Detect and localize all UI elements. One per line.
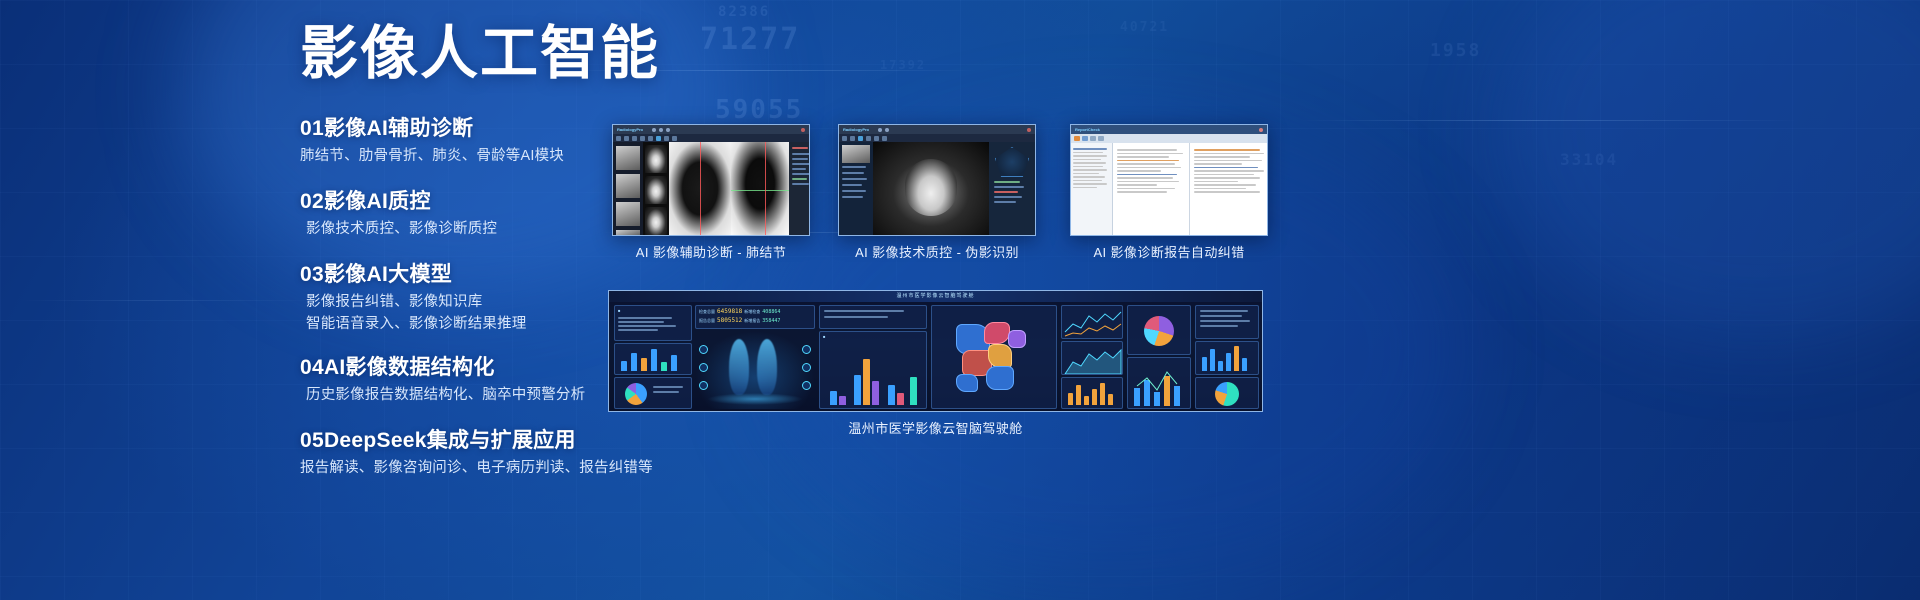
report-text-line <box>1117 184 1157 186</box>
toolbar-icon[interactable] <box>632 136 637 141</box>
dashboard-card-bars-far-right[interactable] <box>1195 341 1259 375</box>
screenshot-ai-quality-control[interactable]: RadiologyPro <box>838 124 1036 236</box>
ribbon-icon[interactable] <box>1098 136 1104 141</box>
bar <box>839 396 846 405</box>
finding-row[interactable] <box>792 173 810 175</box>
background-numeral: 59055 <box>715 95 803 125</box>
toolbar-icon[interactable] <box>858 136 863 141</box>
crosshair-vertical <box>700 142 701 235</box>
window-toolbar[interactable] <box>613 134 809 142</box>
close-icon[interactable] <box>1027 128 1031 132</box>
finding-row[interactable] <box>792 158 808 160</box>
dashboard-card-donut-left[interactable] <box>614 377 692 409</box>
feature-desc-line: 报告解读、影像咨询问诊、电子病历判读、报告纠错等 <box>300 458 720 480</box>
bar <box>888 385 895 405</box>
report-list-row[interactable] <box>1073 183 1107 185</box>
dashboard-card-line-chart[interactable] <box>1061 305 1123 339</box>
dashboard-card-kpis[interactable] <box>819 305 927 329</box>
metric-value: 408864 <box>762 309 780 315</box>
dashboard-card-bars-left[interactable] <box>614 343 692 375</box>
donut-chart <box>1215 382 1239 406</box>
background-numeral: 33104 <box>1560 150 1618 169</box>
screenshot-caption-wrap-2: AI 影像技术质控 - 伪影识别 <box>838 242 1036 261</box>
findings-panel[interactable] <box>789 142 809 235</box>
mixed-chart-svg <box>1128 358 1191 409</box>
metric-value: 6459818 <box>717 308 742 315</box>
report-text-line <box>1194 170 1264 172</box>
report-list-row[interactable] <box>1073 173 1099 175</box>
worklist-row[interactable] <box>842 190 866 192</box>
bar <box>872 381 879 405</box>
report-correction-line <box>1194 149 1260 151</box>
app-brand-label: RadiologyPro <box>843 127 869 132</box>
screenshot-caption-wrap-1: AI 影像辅助诊断 - 肺结节 <box>612 242 810 261</box>
bar <box>1242 358 1247 371</box>
donut-chart <box>625 383 647 405</box>
page-title: 影像人工智能 <box>300 24 720 85</box>
report-list-row[interactable] <box>1073 162 1106 164</box>
feature-desc: 报告解读、影像咨询问诊、电子病历判读、报告纠错等 <box>300 458 720 480</box>
qc-row[interactable] <box>994 196 1022 198</box>
titlebar-dot-icon <box>652 128 656 132</box>
ribbon-icon[interactable] <box>1082 136 1088 141</box>
bar <box>651 349 657 371</box>
bar <box>1084 396 1089 405</box>
report-list-row[interactable] <box>1073 148 1107 150</box>
dashboard-metric-total-exams[interactable]: 检查总量 6459818 新增检查 408864 报告总量 5805512 新增… <box>695 305 815 329</box>
series-thumbnail[interactable] <box>616 230 640 236</box>
metric-row <box>618 321 664 323</box>
dashboard-card-area-chart[interactable] <box>1061 341 1123 375</box>
finding-row[interactable] <box>792 168 806 170</box>
qc-row[interactable] <box>994 181 1020 183</box>
pie-chart <box>1144 316 1174 346</box>
ct-viewport[interactable] <box>873 142 989 235</box>
screenshot-caption: AI 影像诊断报告自动纠错 <box>1070 242 1268 261</box>
list-row <box>1200 310 1248 312</box>
toolbar-icon[interactable] <box>672 136 677 141</box>
ct-thumbnail[interactable] <box>645 176 667 204</box>
app-brand-label: ReportCheck <box>1075 127 1100 132</box>
body-figure <box>729 339 749 395</box>
hotspot-icon[interactable] <box>802 363 811 372</box>
window-titlebar: ReportCheck <box>1071 125 1267 134</box>
bar <box>1108 394 1113 405</box>
toolbar-icon[interactable] <box>664 136 669 141</box>
report-text-line <box>1117 170 1161 172</box>
worklist-row[interactable] <box>842 166 866 168</box>
thumbnail-strip[interactable] <box>613 142 643 235</box>
crosshair-horizontal <box>731 190 789 191</box>
list-row <box>1200 325 1238 327</box>
screenshot-caption: AI 影像辅助诊断 - 肺结节 <box>612 242 810 261</box>
list-row <box>1200 315 1242 317</box>
report-list-row[interactable] <box>1073 187 1097 189</box>
bar <box>1218 361 1223 371</box>
toolbar-icon[interactable] <box>640 136 645 141</box>
toolbar-icon[interactable] <box>850 136 855 141</box>
finding-row[interactable] <box>792 178 807 180</box>
bar <box>1210 349 1215 371</box>
report-text-line <box>1117 188 1175 190</box>
window-titlebar: RadiologyPro <box>613 125 809 134</box>
dashboard-caption: 温州市医学影像云智脑驾驶舱 <box>608 418 1263 437</box>
report-text-line <box>1117 181 1179 183</box>
bar <box>854 375 861 405</box>
metric-label: 新增检查 <box>744 309 760 315</box>
map-region[interactable] <box>956 374 978 392</box>
close-icon[interactable] <box>801 128 805 132</box>
kpi-row <box>824 310 904 312</box>
background-line <box>20 300 320 301</box>
report-text-line <box>1194 188 1246 190</box>
map-region[interactable] <box>984 322 1010 344</box>
list-row <box>1200 320 1250 322</box>
finding-row[interactable] <box>792 163 810 165</box>
background-numeral: 1958 <box>1430 40 1481 61</box>
bar <box>910 377 917 405</box>
background-line <box>1300 120 1800 121</box>
bar <box>621 361 627 371</box>
dashboard-card-pie[interactable] <box>1127 305 1191 355</box>
bar <box>1100 383 1105 405</box>
hotspot-icon[interactable] <box>699 345 708 354</box>
report-list-row[interactable] <box>1073 176 1105 178</box>
dashboard-card-metrics-left[interactable]: ■ <box>614 305 692 341</box>
report-text-line <box>1194 184 1256 186</box>
report-text-line <box>1117 163 1175 165</box>
metric-row <box>618 325 676 327</box>
bar <box>671 355 677 371</box>
secondary-thumbnails[interactable] <box>643 142 669 235</box>
hotspot-icon[interactable] <box>802 381 811 390</box>
titlebar-dot-icon <box>878 128 882 132</box>
bar <box>897 393 904 405</box>
worklist-row[interactable] <box>842 178 867 180</box>
dashboard-card-map[interactable] <box>931 305 1057 409</box>
findings-header <box>792 147 808 149</box>
report-text-line <box>1194 174 1254 176</box>
finding-row[interactable] <box>792 153 810 155</box>
toolbar-icon[interactable] <box>648 136 653 141</box>
report-list-row[interactable] <box>1073 159 1101 161</box>
hologram-base <box>707 393 803 405</box>
bar <box>1076 385 1081 405</box>
worklist-row[interactable] <box>842 184 862 186</box>
ct-thorax-shape <box>905 159 956 217</box>
series-thumbnail[interactable] <box>616 174 640 198</box>
toolbar-icon[interactable] <box>842 136 847 141</box>
bar <box>1202 357 1207 371</box>
bar <box>863 359 870 405</box>
bar <box>641 358 647 371</box>
dashboard-card-list[interactable] <box>1195 305 1259 339</box>
report-text-line <box>1194 163 1242 165</box>
metric-label: 检查总量 <box>699 309 715 315</box>
report-text-line <box>1117 177 1173 179</box>
screenshot-caption-wrap-3: AI 影像诊断报告自动纠错 <box>1070 242 1268 261</box>
report-text-line <box>1194 153 1264 155</box>
report-text-line <box>1194 167 1258 169</box>
dashboard-card-bars-right[interactable] <box>1061 377 1123 409</box>
hotspot-icon[interactable] <box>699 363 708 372</box>
report-list-row[interactable] <box>1073 166 1103 168</box>
series-thumbnail[interactable] <box>842 145 870 163</box>
dashboard-header-title: 温州市医学影像云智脑驾驶舱 <box>609 291 1262 302</box>
titlebar-dot-icon <box>885 128 889 132</box>
background-numeral: 82386 <box>718 4 770 20</box>
ct-axial-viewport[interactable] <box>669 142 731 235</box>
report-list-row[interactable] <box>1073 169 1107 171</box>
ribbon-icon[interactable] <box>1074 136 1080 141</box>
hotspot-icon[interactable] <box>699 381 708 390</box>
report-text-line <box>1194 160 1262 162</box>
report-text-line <box>1117 149 1177 151</box>
hotspot-icon[interactable] <box>802 345 811 354</box>
report-list-row[interactable] <box>1073 152 1103 154</box>
hologram-body-visual[interactable] <box>695 331 815 409</box>
series-thumbnail[interactable] <box>616 146 640 170</box>
report-text-line <box>1117 167 1181 169</box>
metric-row <box>618 317 672 319</box>
radar-chart <box>995 147 1029 177</box>
report-text-line <box>1117 174 1177 176</box>
qc-row[interactable] <box>994 186 1024 188</box>
toolbar-icon[interactable] <box>656 136 661 141</box>
dashboard-card-title: ■ <box>615 306 691 315</box>
legend-row <box>653 386 683 388</box>
toolbar-icon[interactable] <box>874 136 879 141</box>
ribbon-icon[interactable] <box>1090 136 1096 141</box>
worklist-row[interactable] <box>842 172 864 174</box>
ribbon-toolbar[interactable] <box>1071 134 1267 143</box>
report-text-line <box>1194 156 1250 158</box>
dashboard-card-donut-right[interactable] <box>1195 377 1259 409</box>
bar <box>1234 346 1239 371</box>
worklist-row[interactable] <box>842 196 863 198</box>
legend-row <box>653 391 679 393</box>
body-figure <box>757 339 777 395</box>
map-region[interactable] <box>1008 330 1026 348</box>
screenshot-caption: AI 影像技术质控 - 伪影识别 <box>838 242 1036 261</box>
toolbar-icon[interactable] <box>616 136 621 141</box>
ct-thumbnail[interactable] <box>645 207 667 235</box>
report-original-pane[interactable] <box>1113 143 1189 235</box>
series-thumbnail[interactable] <box>616 202 640 226</box>
close-icon[interactable] <box>1259 128 1263 132</box>
report-list-row[interactable] <box>1073 155 1107 157</box>
ct-thumbnail[interactable] <box>645 145 667 173</box>
report-text-line <box>1194 177 1260 179</box>
area-chart-svg <box>1062 342 1123 375</box>
dashboard-card-mixed[interactable] <box>1127 357 1191 409</box>
report-text-line <box>1194 191 1260 193</box>
map-region[interactable] <box>986 366 1014 390</box>
metric-value: 5805512 <box>717 317 742 324</box>
bar <box>1226 353 1231 371</box>
bar <box>631 353 637 371</box>
worklist-panel[interactable] <box>839 142 873 235</box>
toolbar-icon[interactable] <box>866 136 871 141</box>
report-text-line <box>1117 191 1167 193</box>
dashboard-card-title: ■ <box>820 332 926 341</box>
report-text-line <box>1117 156 1169 158</box>
bar <box>830 391 837 405</box>
report-list-panel[interactable] <box>1071 143 1113 235</box>
bar <box>1068 393 1073 405</box>
line-chart-svg <box>1062 306 1123 339</box>
titlebar-dot-icon <box>659 128 663 132</box>
kpi-row <box>824 316 888 318</box>
titlebar-dot-icon <box>666 128 670 132</box>
finding-row[interactable] <box>792 183 809 185</box>
report-text-line <box>1117 153 1183 155</box>
window-titlebar: RadiologyPro <box>839 125 1035 134</box>
screenshot-ai-assisted-diagnosis[interactable]: RadiologyPro <box>612 124 810 236</box>
app-brand-label: RadiologyPro <box>617 127 643 132</box>
metric-label: 新增报告 <box>744 318 760 324</box>
feature-title: 03影像AI大模型 <box>300 261 720 289</box>
screenshot-report-auto-correction[interactable]: ReportCheck <box>1070 124 1268 236</box>
report-text-line <box>1194 181 1238 183</box>
dashboard-caption-wrap: 温州市医学影像云智脑驾驶舱 <box>608 418 1263 437</box>
map-region[interactable] <box>988 344 1012 368</box>
metric-value: 358447 <box>762 318 780 324</box>
qc-row[interactable] <box>994 191 1018 193</box>
report-list-row[interactable] <box>1073 180 1102 182</box>
bar <box>1092 389 1097 405</box>
window-toolbar[interactable] <box>839 134 1035 142</box>
toolbar-icon[interactable] <box>882 136 887 141</box>
toolbar-icon[interactable] <box>624 136 629 141</box>
metric-label: 报告总量 <box>699 318 715 324</box>
bar <box>661 362 667 371</box>
dashboard-card-bar-chart[interactable]: ■ <box>819 331 927 409</box>
qc-result-panel[interactable] <box>989 142 1035 235</box>
background-numeral: 40721 <box>1120 20 1169 35</box>
dashboard-screenshot[interactable]: 温州市医学影像云智脑驾驶舱 ■ 检查总 <box>608 290 1263 412</box>
banner-stage: 71277 59055 82386 26722 1958 33104 40721… <box>0 0 1920 600</box>
report-corrected-pane[interactable] <box>1189 143 1267 235</box>
ct-coronal-viewport[interactable] <box>731 142 789 235</box>
report-error-line <box>1117 160 1179 162</box>
metric-row <box>618 329 658 331</box>
qc-row[interactable] <box>994 201 1016 203</box>
crosshair-vertical <box>765 142 766 235</box>
